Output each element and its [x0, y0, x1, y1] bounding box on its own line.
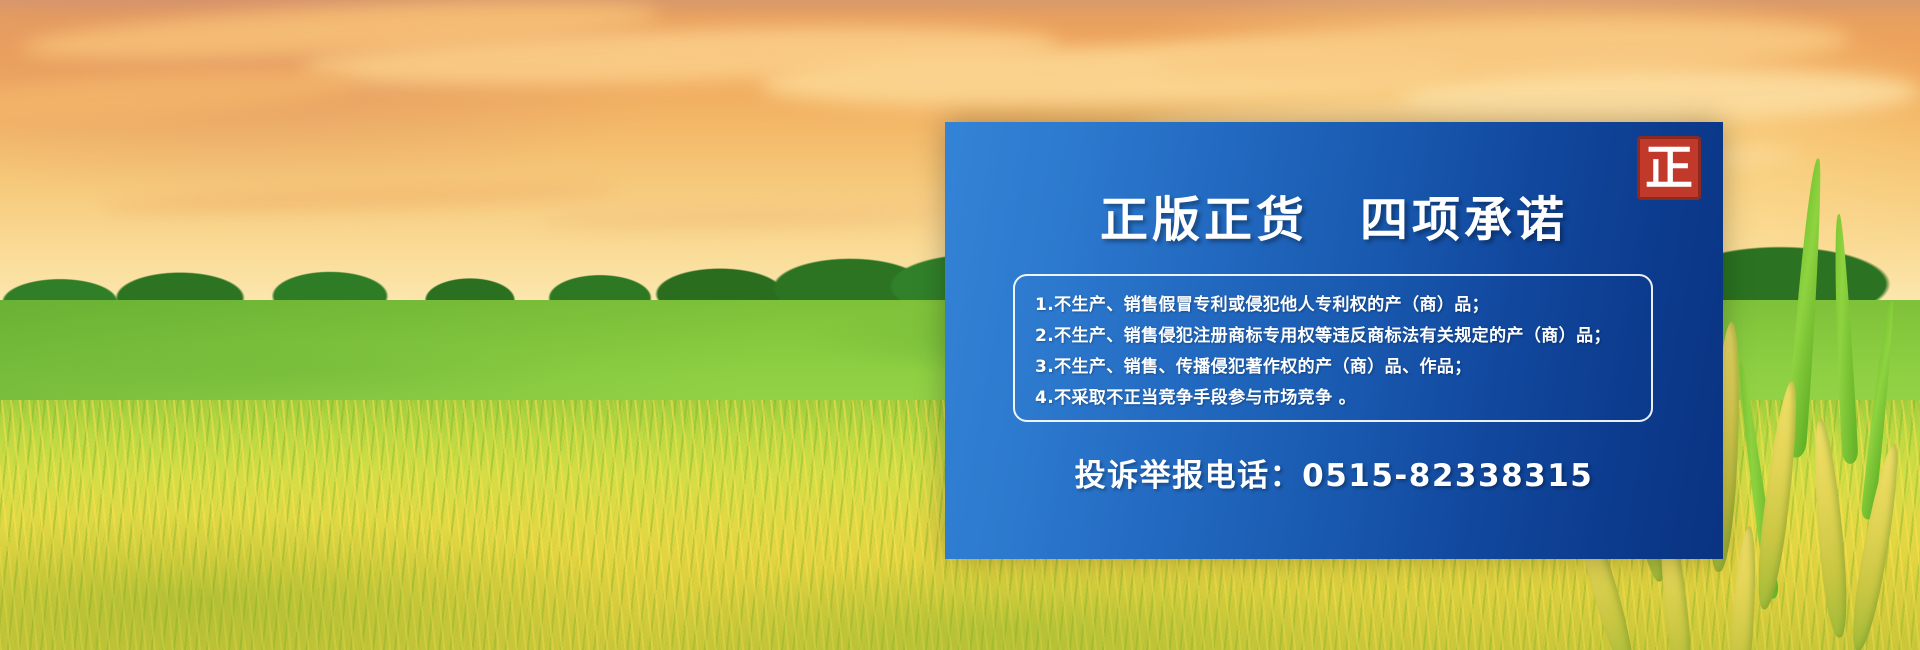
- complaint-hotline: 投诉举报电话：0515-82338315: [945, 450, 1723, 495]
- promise-banner: 正 正版正货 四项承诺 1.不生产、销售假冒专利或侵犯他人专利权的产（商）品； …: [0, 0, 1920, 650]
- promise-item-2: 2.不生产、销售侵犯注册商标专用权等违反商标法有关规定的产（商）品；: [1035, 321, 1631, 352]
- rice-blade-2: [1829, 214, 1858, 464]
- panel-title: 正版正货 四项承诺: [945, 180, 1723, 250]
- promise-list-box: 1.不生产、销售假冒专利或侵犯他人专利权的产（商）品； 2.不生产、销售侵犯注册…: [1013, 274, 1653, 422]
- blue-promise-panel: 正 正版正货 四项承诺 1.不生产、销售假冒专利或侵犯他人专利权的产（商）品； …: [945, 122, 1723, 559]
- rice-stalk-10: [1726, 525, 1761, 650]
- promise-item-3: 3.不生产、销售、传播侵犯著作权的产（商）品、作品；: [1035, 352, 1631, 383]
- promise-item-4: 4.不采取不正当竞争手段参与市场竞争 。: [1035, 383, 1631, 414]
- promise-item-1: 1.不生产、销售假冒专利或侵犯他人专利权的产（商）品；: [1035, 290, 1631, 321]
